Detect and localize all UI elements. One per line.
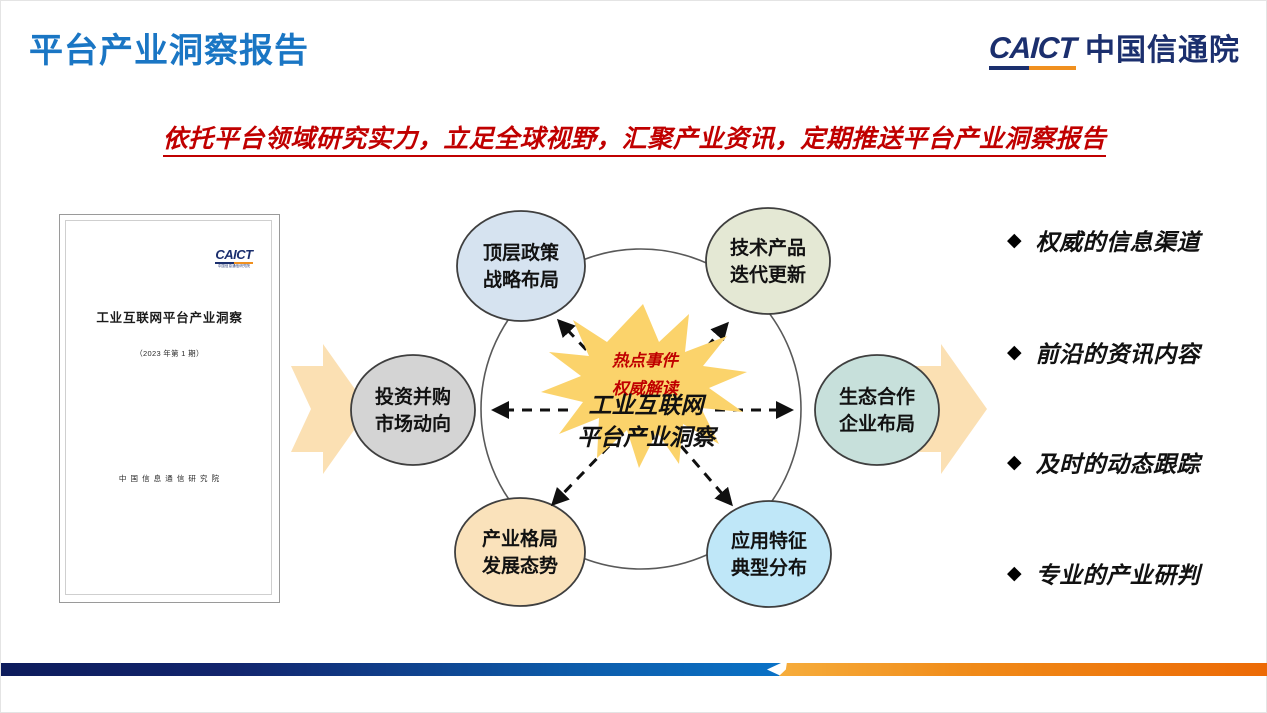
node-technology-line2: 迭代更新 bbox=[730, 263, 806, 286]
insight-cycle-diagram: 顶层政策 战略布局 技术产品 迭代更新 生态合作 企业布局 应用特征 典型分布 bbox=[291, 196, 991, 626]
node-industry-line1: 产业格局 bbox=[482, 527, 558, 550]
footer-accent-bar bbox=[1, 663, 1267, 676]
arrow-to-application bbox=[681, 446, 731, 504]
slide-subtitle: 依托平台领域研究实力，立足全球视野，汇聚产业资讯，定期推送平台产业洞察报告 bbox=[1, 119, 1267, 155]
caict-logo: CAICT 中国信通院 bbox=[989, 34, 1240, 70]
subtitle-text: 依托平台领域研究实力，立足全球视野，汇聚产业资讯，定期推送平台产业洞察报告 bbox=[163, 125, 1107, 157]
diagram-node-application[interactable]: 应用特征 典型分布 bbox=[707, 501, 831, 607]
caict-wordmark: CAICT bbox=[989, 34, 1076, 70]
arrow-to-industry bbox=[553, 446, 609, 504]
report-cover-logo-subtext: 中国信息通信研究院 bbox=[215, 265, 253, 268]
report-cover-organization: 中 国 信 息 通 信 研 究 院 bbox=[60, 473, 279, 484]
report-cover-issue: （2023 年第 1 期） bbox=[60, 348, 279, 359]
center-line1: 工业互联网 bbox=[589, 392, 708, 418]
diagram-node-industry[interactable]: 产业格局 发展态势 bbox=[455, 498, 585, 606]
benefit-label-1: 权威的信息渠道 bbox=[1036, 223, 1201, 257]
diagram-node-investment[interactable]: 投资并购 市场动向 bbox=[351, 355, 475, 465]
benefit-label-2: 前沿的资讯内容 bbox=[1036, 335, 1201, 369]
node-ecosystem-line1: 生态合作 bbox=[839, 385, 915, 408]
diamond-bullet-icon: ◆ bbox=[1007, 453, 1022, 472]
benefits-list: ◆ 权威的信息渠道 ◆ 前沿的资讯内容 ◆ 及时的动态跟踪 ◆ 专业的产业研判 bbox=[1007, 211, 1267, 611]
footer-bar-orange bbox=[779, 663, 1267, 676]
node-industry-line2: 发展态势 bbox=[481, 554, 558, 577]
node-technology-line1: 技术产品 bbox=[730, 236, 806, 259]
center-line2: 平台产业洞察 bbox=[577, 424, 719, 450]
benefit-item-2: ◆ 前沿的资讯内容 bbox=[1007, 335, 1200, 369]
diamond-bullet-icon: ◆ bbox=[1007, 343, 1022, 362]
benefit-item-1: ◆ 权威的信息渠道 bbox=[1007, 223, 1200, 257]
report-cover-thumbnail[interactable]: CAICT 中国信息通信研究院 工业互联网平台产业洞察 （2023 年第 1 期… bbox=[59, 214, 280, 603]
logo-underline-bar bbox=[989, 66, 1076, 70]
report-cover-logo-text: CAICT bbox=[215, 248, 253, 261]
caict-logo-chinese: 中国信通院 bbox=[1085, 36, 1240, 70]
benefit-item-3: ◆ 及时的动态跟踪 bbox=[1007, 445, 1200, 479]
node-policy-line2: 战略布局 bbox=[483, 268, 559, 291]
diamond-bullet-icon: ◆ bbox=[1007, 564, 1022, 583]
starburst-line1: 热点事件 bbox=[611, 351, 681, 370]
benefit-label-3: 及时的动态跟踪 bbox=[1036, 445, 1201, 479]
benefit-label-4: 专业的产业研判 bbox=[1036, 556, 1201, 590]
node-policy-line1: 顶层政策 bbox=[483, 241, 560, 264]
node-ecosystem-line2: 企业布局 bbox=[838, 412, 915, 435]
page-title: 平台产业洞察报告 bbox=[29, 23, 309, 72]
diagram-node-ecosystem[interactable]: 生态合作 企业布局 bbox=[815, 355, 939, 465]
node-application-line2: 典型分布 bbox=[731, 556, 807, 579]
caict-logo-text: CAICT bbox=[989, 34, 1077, 64]
slide-header: 平台产业洞察报告 CAICT 中国信通院 bbox=[1, 1, 1267, 93]
node-investment-line2: 市场动向 bbox=[375, 412, 451, 435]
slide-root: 平台产业洞察报告 CAICT 中国信通院 依托平台领域研究实力，立足全球视野，汇… bbox=[0, 0, 1267, 713]
node-investment-line1: 投资并购 bbox=[375, 385, 451, 408]
node-application-line1: 应用特征 bbox=[731, 529, 807, 552]
diagram-node-technology[interactable]: 技术产品 迭代更新 bbox=[706, 208, 830, 314]
report-cover-title: 工业互联网平台产业洞察 bbox=[60, 307, 279, 326]
report-cover-logo: CAICT 中国信息通信研究院 bbox=[215, 248, 253, 268]
footer-bar-blue bbox=[1, 663, 781, 676]
diagram-node-policy[interactable]: 顶层政策 战略布局 bbox=[457, 211, 585, 321]
benefit-item-4: ◆ 专业的产业研判 bbox=[1007, 556, 1200, 590]
report-cover-inner-border bbox=[65, 220, 272, 595]
diamond-bullet-icon: ◆ bbox=[1007, 231, 1022, 250]
